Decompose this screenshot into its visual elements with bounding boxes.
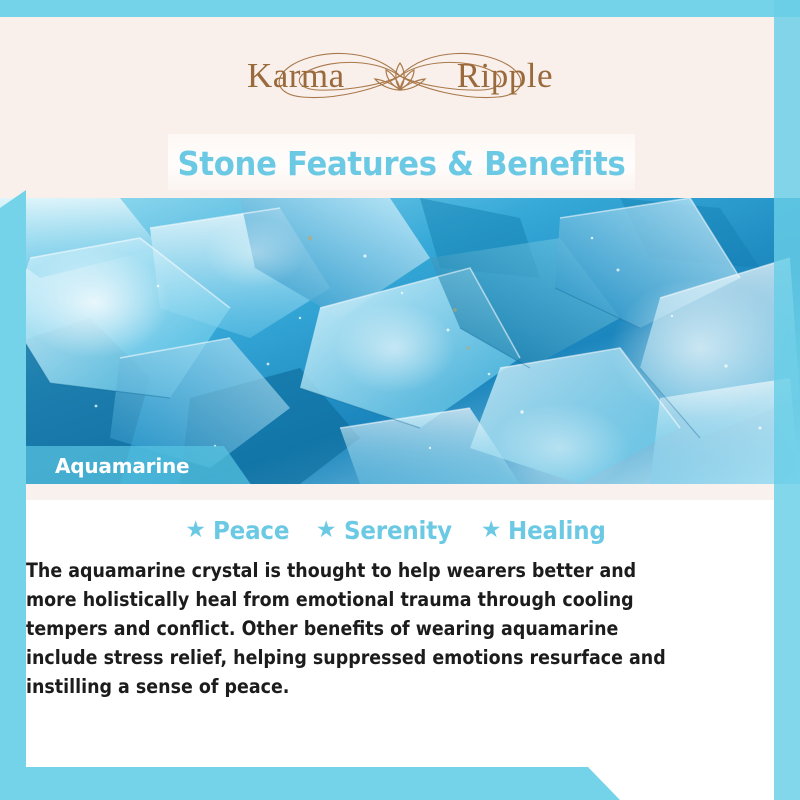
stone-name-banner: Aquamarine [0, 446, 252, 486]
aquamarine-crystal-photo [0, 198, 800, 484]
frame-border-right [774, 0, 800, 800]
keyword-healing: ★ Healing [471, 516, 625, 545]
brand-name-left: Karma [247, 56, 401, 96]
keyword-peace: ★ Peace [175, 516, 306, 545]
photo-bottom-divider [26, 484, 774, 500]
star-icon: ★ [185, 518, 206, 541]
keyword-serenity: ★ Serenity [306, 516, 471, 545]
stone-description: The aquamarine crystal is thought to hel… [26, 556, 683, 701]
frame-border-bottom [0, 767, 620, 800]
frame-border-top [0, 0, 800, 17]
brand-logo-inner: KarmaRipple [240, 41, 560, 111]
keyword-row: ★ Peace ★ Serenity ★ Healing [26, 512, 774, 548]
crystal-illustration [0, 198, 800, 484]
brand-logo: KarmaRipple [0, 40, 800, 112]
star-icon: ★ [481, 518, 502, 541]
keyword-label: Serenity [344, 516, 452, 545]
stone-name-label: Aquamarine [55, 454, 189, 478]
brand-name-right: Ripple [401, 56, 553, 96]
infographic-page: KarmaRipple Stone Features & Benefits [0, 0, 800, 800]
star-icon: ★ [316, 518, 337, 541]
brand-logo-text: KarmaRipple [247, 56, 553, 96]
keyword-label: Healing [508, 516, 606, 545]
frame-border-left [0, 190, 26, 800]
page-title: Stone Features & Benefits [184, 140, 618, 186]
keyword-label: Peace [213, 516, 289, 545]
